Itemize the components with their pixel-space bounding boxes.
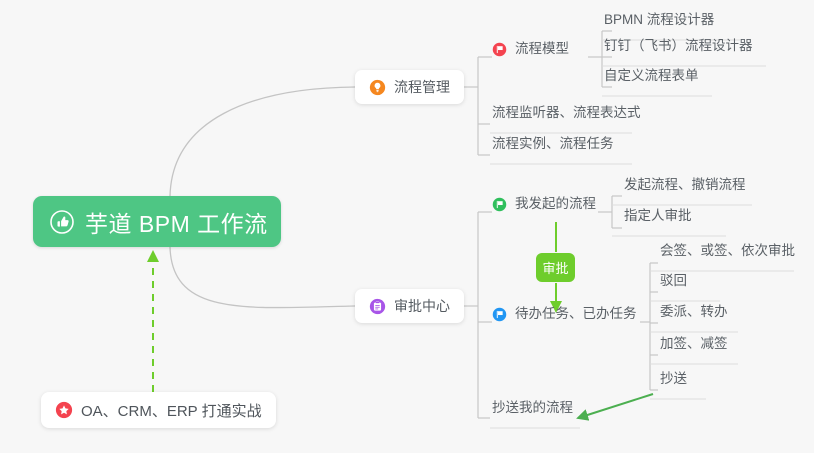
node-cc[interactable]: 抄送 — [660, 371, 687, 392]
node-todo-done-task-label: 待办任务、已办任务 — [515, 306, 637, 322]
node-process-instance-task-label: 流程实例、流程任务 — [492, 136, 614, 152]
flag-icon — [492, 197, 507, 212]
node-delegate-transfer-label: 委派、转办 — [660, 304, 728, 320]
clipboard-icon — [369, 298, 386, 315]
node-process-instance-task[interactable]: 流程实例、流程任务 — [492, 136, 614, 157]
link-root-to-approval-center — [170, 247, 355, 308]
node-countersign-approval-label: 会签、或签、依次审批 — [660, 243, 795, 259]
node-reject-label: 驳回 — [660, 273, 687, 289]
node-assignee-approval-label: 指定人审批 — [624, 208, 692, 224]
flag-icon — [492, 42, 507, 57]
node-start-cancel-process-label: 发起流程、撤销流程 — [624, 177, 746, 193]
node-bpmn-designer[interactable]: BPMN 流程设计器 — [604, 12, 714, 33]
node-reject[interactable]: 驳回 — [660, 273, 687, 294]
node-assignee-approval[interactable]: 指定人审批 — [624, 208, 692, 229]
node-custom-process-form-label: 自定义流程表单 — [604, 68, 699, 84]
node-todo-done-task[interactable]: 待办任务、已办任务 — [492, 306, 637, 327]
node-process-model[interactable]: 流程模型 — [492, 41, 569, 62]
lightbulb-icon — [369, 79, 386, 96]
node-approval-center-label: 审批中心 — [394, 296, 450, 316]
node-approval-center[interactable]: 审批中心 — [355, 289, 464, 323]
node-my-initiated-process-label: 我发起的流程 — [515, 196, 596, 212]
node-integration-note-label: OA、CRM、ERP 打通实战 — [81, 400, 262, 421]
node-process-management[interactable]: 流程管理 — [355, 70, 464, 104]
arrow-cc-to-cc-my-process — [578, 394, 653, 418]
annotation-approve-tag-label: 审批 — [542, 258, 568, 277]
root-node[interactable]: 芋道 BPM 工作流 — [33, 196, 281, 247]
node-process-listener-expression-label: 流程监听器、流程表达式 — [492, 105, 641, 121]
root-node-label: 芋道 BPM 工作流 — [85, 205, 268, 239]
node-integration-note[interactable]: OA、CRM、ERP 打通实战 — [41, 392, 276, 428]
node-dingtalk-feishu-designer[interactable]: 钉钉（飞书）流程设计器 — [604, 38, 753, 59]
node-process-management-label: 流程管理 — [394, 77, 450, 97]
node-cc-my-process[interactable]: 抄送我的流程 — [492, 400, 573, 421]
star-icon — [55, 401, 73, 419]
node-process-listener-expression[interactable]: 流程监听器、流程表达式 — [492, 105, 641, 126]
node-add-remove-sign-label: 加签、减签 — [660, 336, 728, 352]
node-custom-process-form[interactable]: 自定义流程表单 — [604, 68, 699, 89]
node-bpmn-designer-label: BPMN 流程设计器 — [604, 12, 714, 28]
flag-icon — [492, 307, 507, 322]
node-delegate-transfer[interactable]: 委派、转办 — [660, 304, 728, 325]
link-root-to-process-management — [170, 87, 355, 196]
node-cc-label: 抄送 — [660, 371, 687, 387]
node-countersign-approval[interactable]: 会签、或签、依次审批 — [660, 243, 795, 264]
node-process-model-label: 流程模型 — [515, 41, 569, 57]
node-cc-my-process-label: 抄送我的流程 — [492, 400, 573, 416]
annotation-approve-tag: 审批 — [536, 253, 575, 282]
mindmap-canvas: 芋道 BPM 工作流 流程管理 流程模型 BPMN 流程设计器 钉 — [0, 0, 814, 453]
node-start-cancel-process[interactable]: 发起流程、撤销流程 — [624, 177, 746, 198]
node-dingtalk-feishu-designer-label: 钉钉（飞书）流程设计器 — [604, 38, 753, 54]
thumbs-up-icon — [50, 210, 74, 234]
node-my-initiated-process[interactable]: 我发起的流程 — [492, 196, 596, 217]
node-add-remove-sign[interactable]: 加签、减签 — [660, 336, 728, 357]
